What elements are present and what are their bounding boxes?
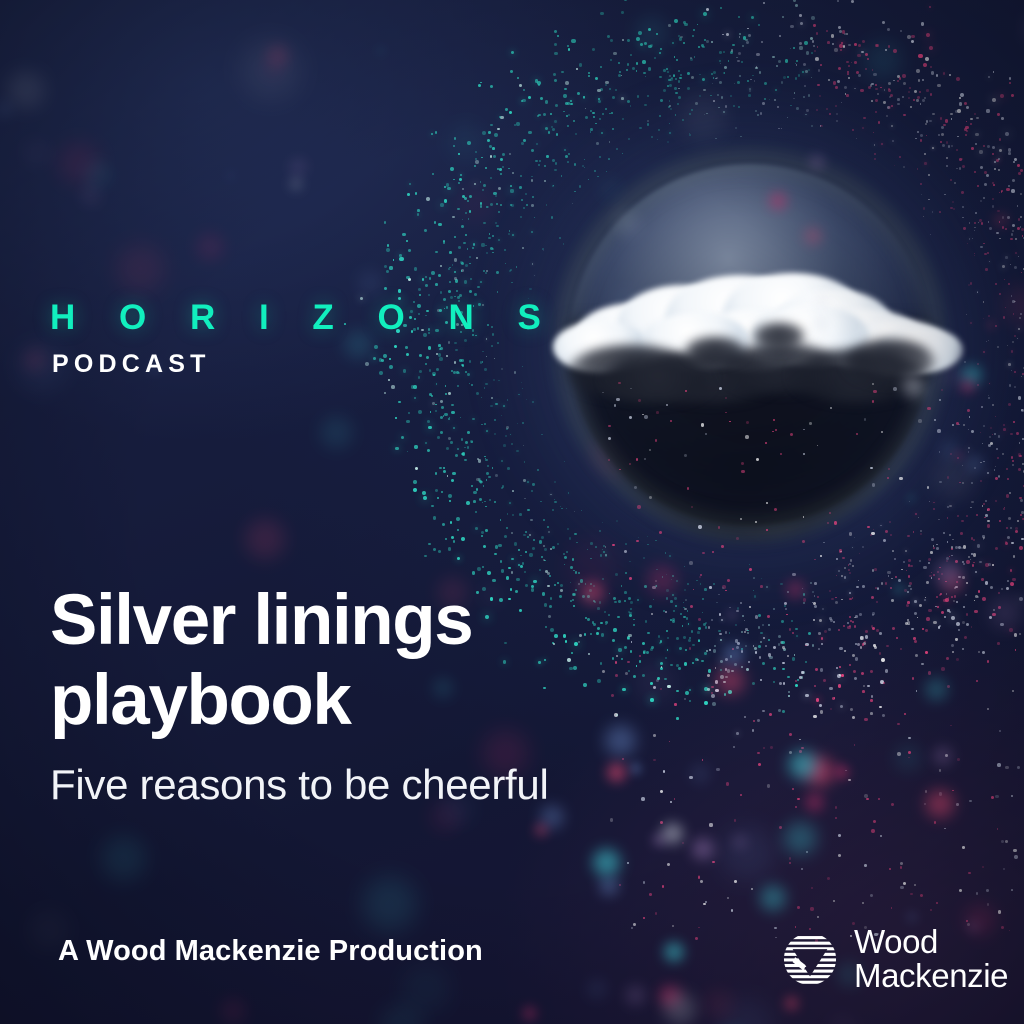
page-title-line-2: playbook — [50, 661, 350, 740]
wood-mackenzie-logo: Wood Mackenzie — [779, 925, 1008, 992]
brand-title: H O R I Z O N S — [50, 300, 558, 335]
brand-block: H O R I Z O N S PODCAST — [50, 300, 558, 377]
logo-line-1: Wood — [854, 925, 1008, 959]
wood-mackenzie-wordmark: Wood Mackenzie — [854, 925, 1008, 992]
brand-subtitle: PODCAST — [52, 352, 558, 377]
vignette-overlay — [0, 0, 1024, 1024]
logo-line-2: Mackenzie — [854, 959, 1008, 993]
production-credit: A Wood Mackenzie Production — [58, 935, 483, 968]
page-title: Silver liningsplaybook — [50, 581, 610, 740]
page-title-line-1: Silver linings — [50, 581, 472, 660]
page-subtitle: Five reasons to be cheerful — [50, 761, 610, 809]
headline-block: Silver liningsplaybook Five reasons to b… — [50, 581, 610, 809]
podcast-cover-art: H O R I Z O N S PODCAST Silver liningspl… — [0, 0, 1024, 1024]
wood-mackenzie-striped-globe-icon — [779, 928, 841, 990]
